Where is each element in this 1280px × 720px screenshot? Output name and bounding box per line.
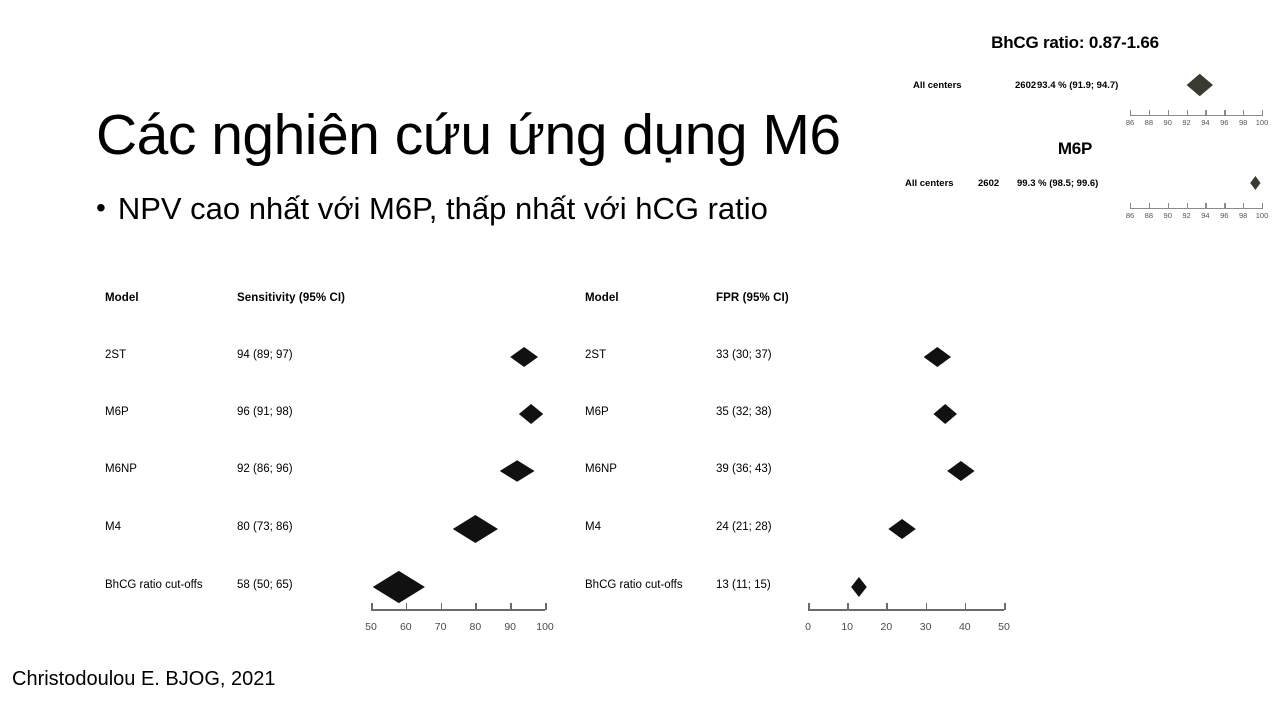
mini-x-axis-tick — [1187, 203, 1188, 209]
mini-x-axis-tick-label: 88 — [1145, 211, 1153, 220]
mini-x-axis-tick — [1224, 203, 1225, 209]
mini-row-count: 2602 — [978, 178, 999, 189]
m6p-mini-forest: M6PAll centers260299.3 % (98.5; 99.6)868… — [0, 0, 1280, 720]
mini-x-axis-tick — [1168, 203, 1169, 209]
mini-x-axis-tick-label: 86 — [1126, 211, 1134, 220]
mini-x-axis-tick-label: 98 — [1239, 211, 1247, 220]
mini-forest-diamond — [1250, 176, 1260, 190]
mini-x-axis-tick — [1130, 203, 1131, 209]
mini-plot-title: M6P — [1058, 139, 1092, 159]
mini-x-axis-tick — [1262, 203, 1263, 209]
mini-x-axis-tick-label: 96 — [1220, 211, 1228, 220]
mini-x-axis-tick-label: 90 — [1164, 211, 1172, 220]
mini-x-axis-tick-label: 92 — [1182, 211, 1190, 220]
mini-x-axis-tick-label: 100 — [1256, 211, 1269, 220]
mini-row-label: All centers — [905, 178, 954, 189]
mini-x-axis-tick — [1205, 203, 1206, 209]
mini-x-axis-tick-label: 94 — [1201, 211, 1209, 220]
mini-x-axis-tick — [1243, 203, 1244, 209]
slide-canvas: Các nghiên cứu ứng dụng M6 • NPV cao nhấ… — [0, 0, 1280, 720]
mini-x-axis-tick — [1149, 203, 1150, 209]
mini-row-estimate: 99.3 % (98.5; 99.6) — [1017, 178, 1098, 189]
